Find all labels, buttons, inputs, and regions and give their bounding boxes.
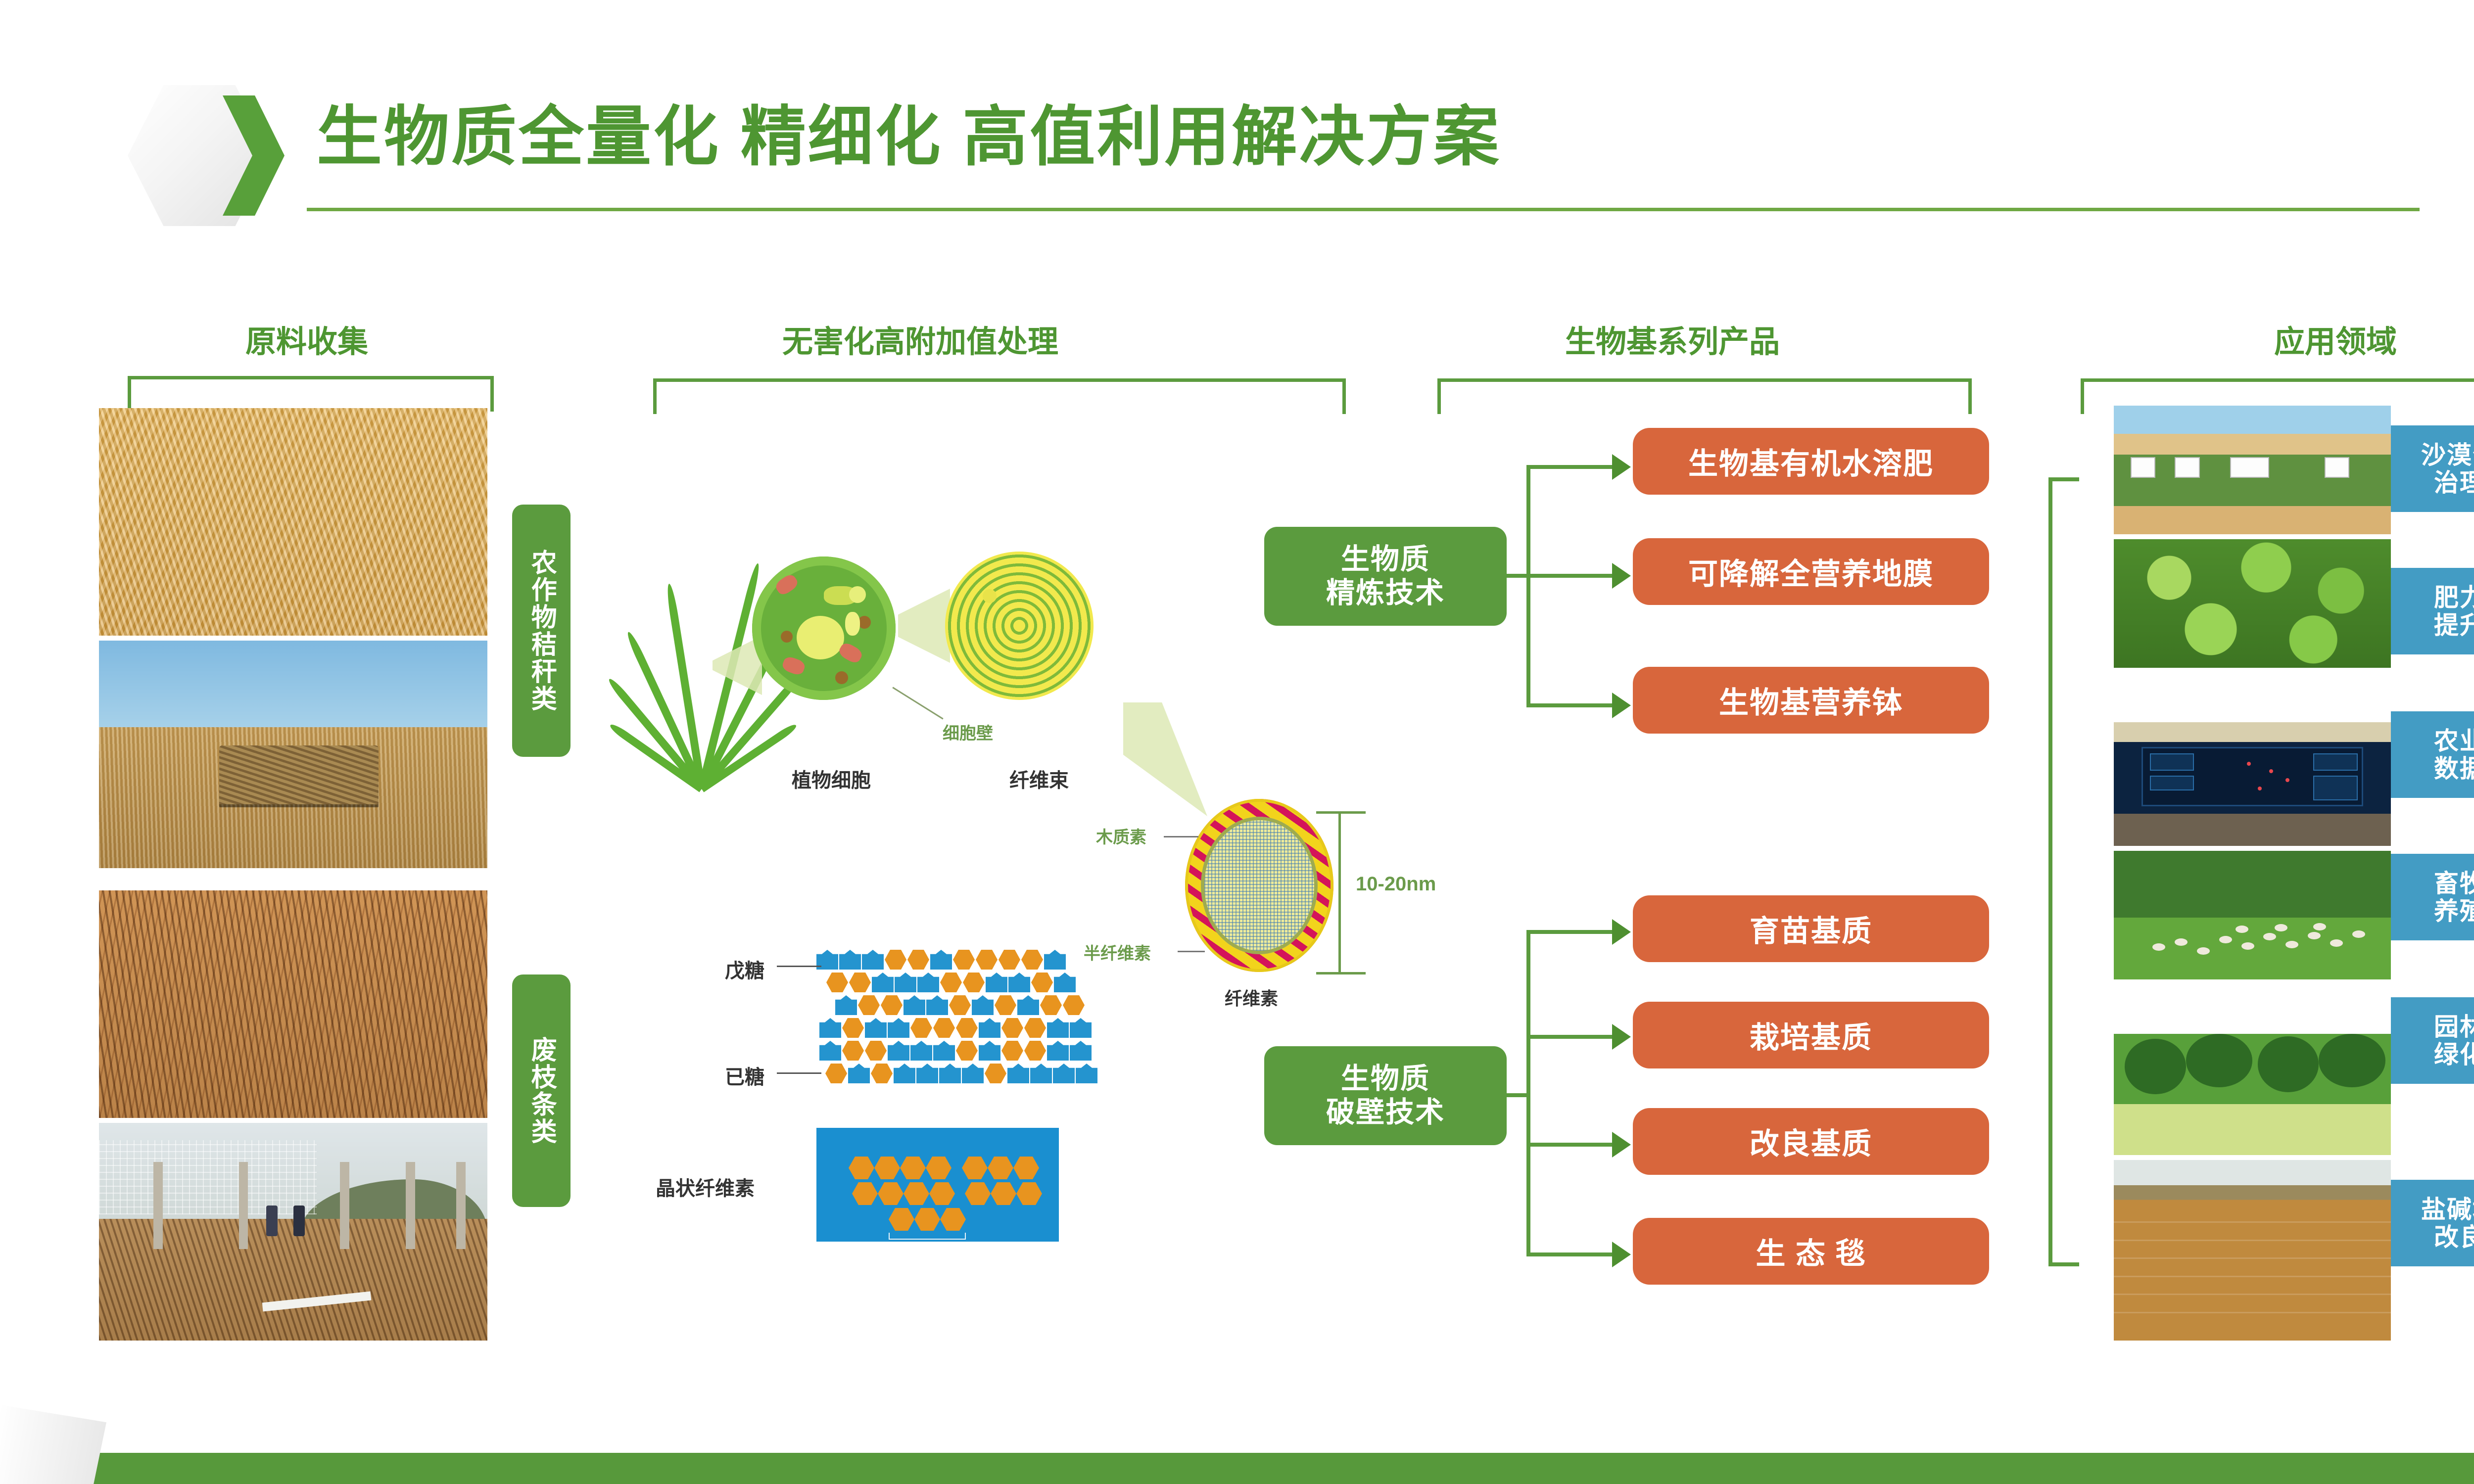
tech-wall-line2: 破壁技术 (1326, 1096, 1445, 1129)
app-photo-park-greening (2114, 1034, 2391, 1155)
label-pentose: 戊糖 (725, 955, 764, 983)
app-tag-fertility-line1: 肥力 (2434, 584, 2474, 611)
app-tag-agriculture-data[interactable]: 农业 数据 (2391, 711, 2474, 798)
arrow-wall-4 (1612, 1242, 1631, 1267)
leader-cell-wall (892, 687, 943, 719)
connector-refining-b3 (1526, 703, 1616, 707)
app-tag-livestock-line2: 养殖 (2434, 897, 2474, 925)
crystalline-cellulose-illustration (816, 1128, 1059, 1242)
app-tag-desert-line1: 沙漠化 (2421, 441, 2474, 469)
footer-wedge-decoration (0, 1405, 106, 1484)
dimension-tick-top (1316, 811, 1366, 814)
app-photo-cabbage-field (2114, 539, 2391, 668)
product-box-improvement-substrate[interactable]: 改良基质 (1633, 1108, 1989, 1175)
sugar-chain-illustration (816, 950, 1183, 1113)
tech-refining-line1: 生物质 (1326, 543, 1445, 576)
arrow-refining-1 (1612, 454, 1631, 480)
connector-wall-b4 (1526, 1252, 1616, 1256)
page-header: 生物质全量化 精细化 高值利用解决方案 (0, 0, 2474, 237)
photo-corn-stalks (99, 408, 487, 636)
connector-wall-b2 (1526, 1035, 1616, 1039)
app-tag-saline-line1: 盐碱地 (2421, 1196, 2474, 1223)
arrow-wall-1 (1612, 919, 1631, 945)
page-title: 生物质全量化 精细化 高值利用解决方案 (317, 84, 1501, 179)
app-tag-desertification-control[interactable]: 沙漠化 治理 (2391, 425, 2474, 512)
tech-box-refining[interactable]: 生物质 精炼技术 (1264, 527, 1507, 626)
hexagon-chevron-logo (128, 79, 296, 232)
label-fiber-bundle: 纤维束 (1009, 764, 1069, 793)
label-lignin: 木质素 (1096, 824, 1146, 848)
app-tag-desert-line2: 治理 (2421, 469, 2474, 497)
photo-orchard-collection (99, 1123, 487, 1341)
footer-bar (89, 1453, 2474, 1484)
app-tag-fertility-line2: 提升 (2434, 611, 2474, 639)
leader-hexose (777, 1072, 821, 1074)
app-photo-desert (2114, 406, 2391, 534)
label-cellulose: 纤维素 (1225, 984, 1278, 1010)
connector-refining-b1 (1526, 465, 1616, 469)
category-tab-crop-straw[interactable]: 农作物秸秆类 (512, 505, 571, 757)
app-tag-saline-alkali-improvement[interactable]: 盐碱地 改良 (2391, 1180, 2474, 1266)
connector-refining-stem (1507, 574, 1528, 578)
leader-lignin (1164, 836, 1198, 837)
app-tag-greening-line1: 园林 (2434, 1013, 2474, 1041)
section-label-collection: 原料收集 (148, 317, 465, 361)
label-crystalline-cellulose: 晶状纤维素 (656, 1172, 755, 1201)
connector-refining-b2 (1526, 574, 1616, 578)
app-tag-greening-line2: 绿化 (2434, 1041, 2474, 1068)
section-bracket-processing (653, 378, 1346, 414)
connector-wall-spine (1526, 930, 1530, 1256)
label-dimension: 10-20nm (1356, 873, 1436, 895)
app-photo-data-room (2114, 722, 2391, 846)
section-label-products: 生物基系列产品 (1425, 317, 1920, 361)
photo-dry-branches (99, 890, 487, 1118)
arrow-refining-3 (1612, 693, 1631, 718)
connector-wall-stem (1507, 1093, 1528, 1097)
section-bracket-products (1437, 378, 1972, 414)
fiber-bundle-illustration (945, 552, 1094, 700)
app-tag-data-line2: 数据 (2434, 755, 2474, 783)
category-tab-waste-branches[interactable]: 废枝条类 (512, 974, 571, 1207)
connector-wall-b1 (1526, 930, 1616, 934)
tech-box-wall-breaking[interactable]: 生物质 破壁技术 (1264, 1046, 1507, 1145)
plant-cell-illustration (752, 556, 896, 700)
app-tag-saline-line2: 改良 (2421, 1223, 2474, 1251)
product-box-seedling-substrate[interactable]: 育苗基质 (1633, 895, 1989, 962)
label-hexose: 已糖 (725, 1061, 764, 1090)
label-cell-wall: 细胞壁 (943, 720, 993, 744)
tech-refining-line2: 精炼技术 (1326, 576, 1445, 610)
product-box-degradable-mulch-film[interactable]: 可降解全营养地膜 (1633, 538, 1989, 605)
product-box-water-soluble-fertilizer[interactable]: 生物基有机水溶肥 (1633, 428, 1989, 495)
app-tag-landscape-greening[interactable]: 园林 绿化 (2391, 997, 2474, 1084)
app-photo-saline-land (2114, 1160, 2391, 1341)
leader-pentose (777, 966, 821, 967)
app-tag-fertility-improvement[interactable]: 肥力 提升 (2391, 568, 2474, 654)
connector-wall-b3 (1526, 1143, 1616, 1147)
tech-wall-line1: 生物质 (1326, 1062, 1445, 1096)
app-photo-pasture (2114, 851, 2391, 979)
section-bracket-collection (128, 376, 494, 412)
app-tag-data-line1: 农业 (2434, 727, 2474, 755)
arrow-wall-2 (1612, 1024, 1631, 1050)
section-label-applications: 应用领域 (2152, 317, 2474, 361)
product-box-nutrition-pot[interactable]: 生物基营养钵 (1633, 667, 1989, 734)
label-plant-cell: 植物细胞 (792, 764, 871, 793)
product-box-cultivation-substrate[interactable]: 栽培基质 (1633, 1002, 1989, 1068)
connector-refining-spine (1526, 465, 1530, 707)
magnify-beam-3 (1123, 702, 1207, 816)
app-tag-livestock-line1: 畜牧 (2434, 870, 2474, 897)
dimension-tick-bottom (1316, 972, 1366, 974)
fiber-cross-section-illustration (1185, 799, 1333, 972)
photo-straw-bale (99, 641, 487, 868)
product-box-ecological-blanket[interactable]: 生 态 毯 (1633, 1218, 1989, 1285)
magnify-beam-2 (898, 589, 950, 663)
section-label-processing: 无害化高附加值处理 (653, 317, 1188, 361)
arrow-wall-3 (1612, 1132, 1631, 1158)
arrow-refining-2 (1612, 563, 1631, 589)
app-tag-livestock-breeding[interactable]: 畜牧 养殖 (2391, 854, 2474, 940)
dimension-line (1338, 811, 1341, 974)
application-bracket (2048, 477, 2079, 1266)
title-underline (307, 208, 2420, 211)
